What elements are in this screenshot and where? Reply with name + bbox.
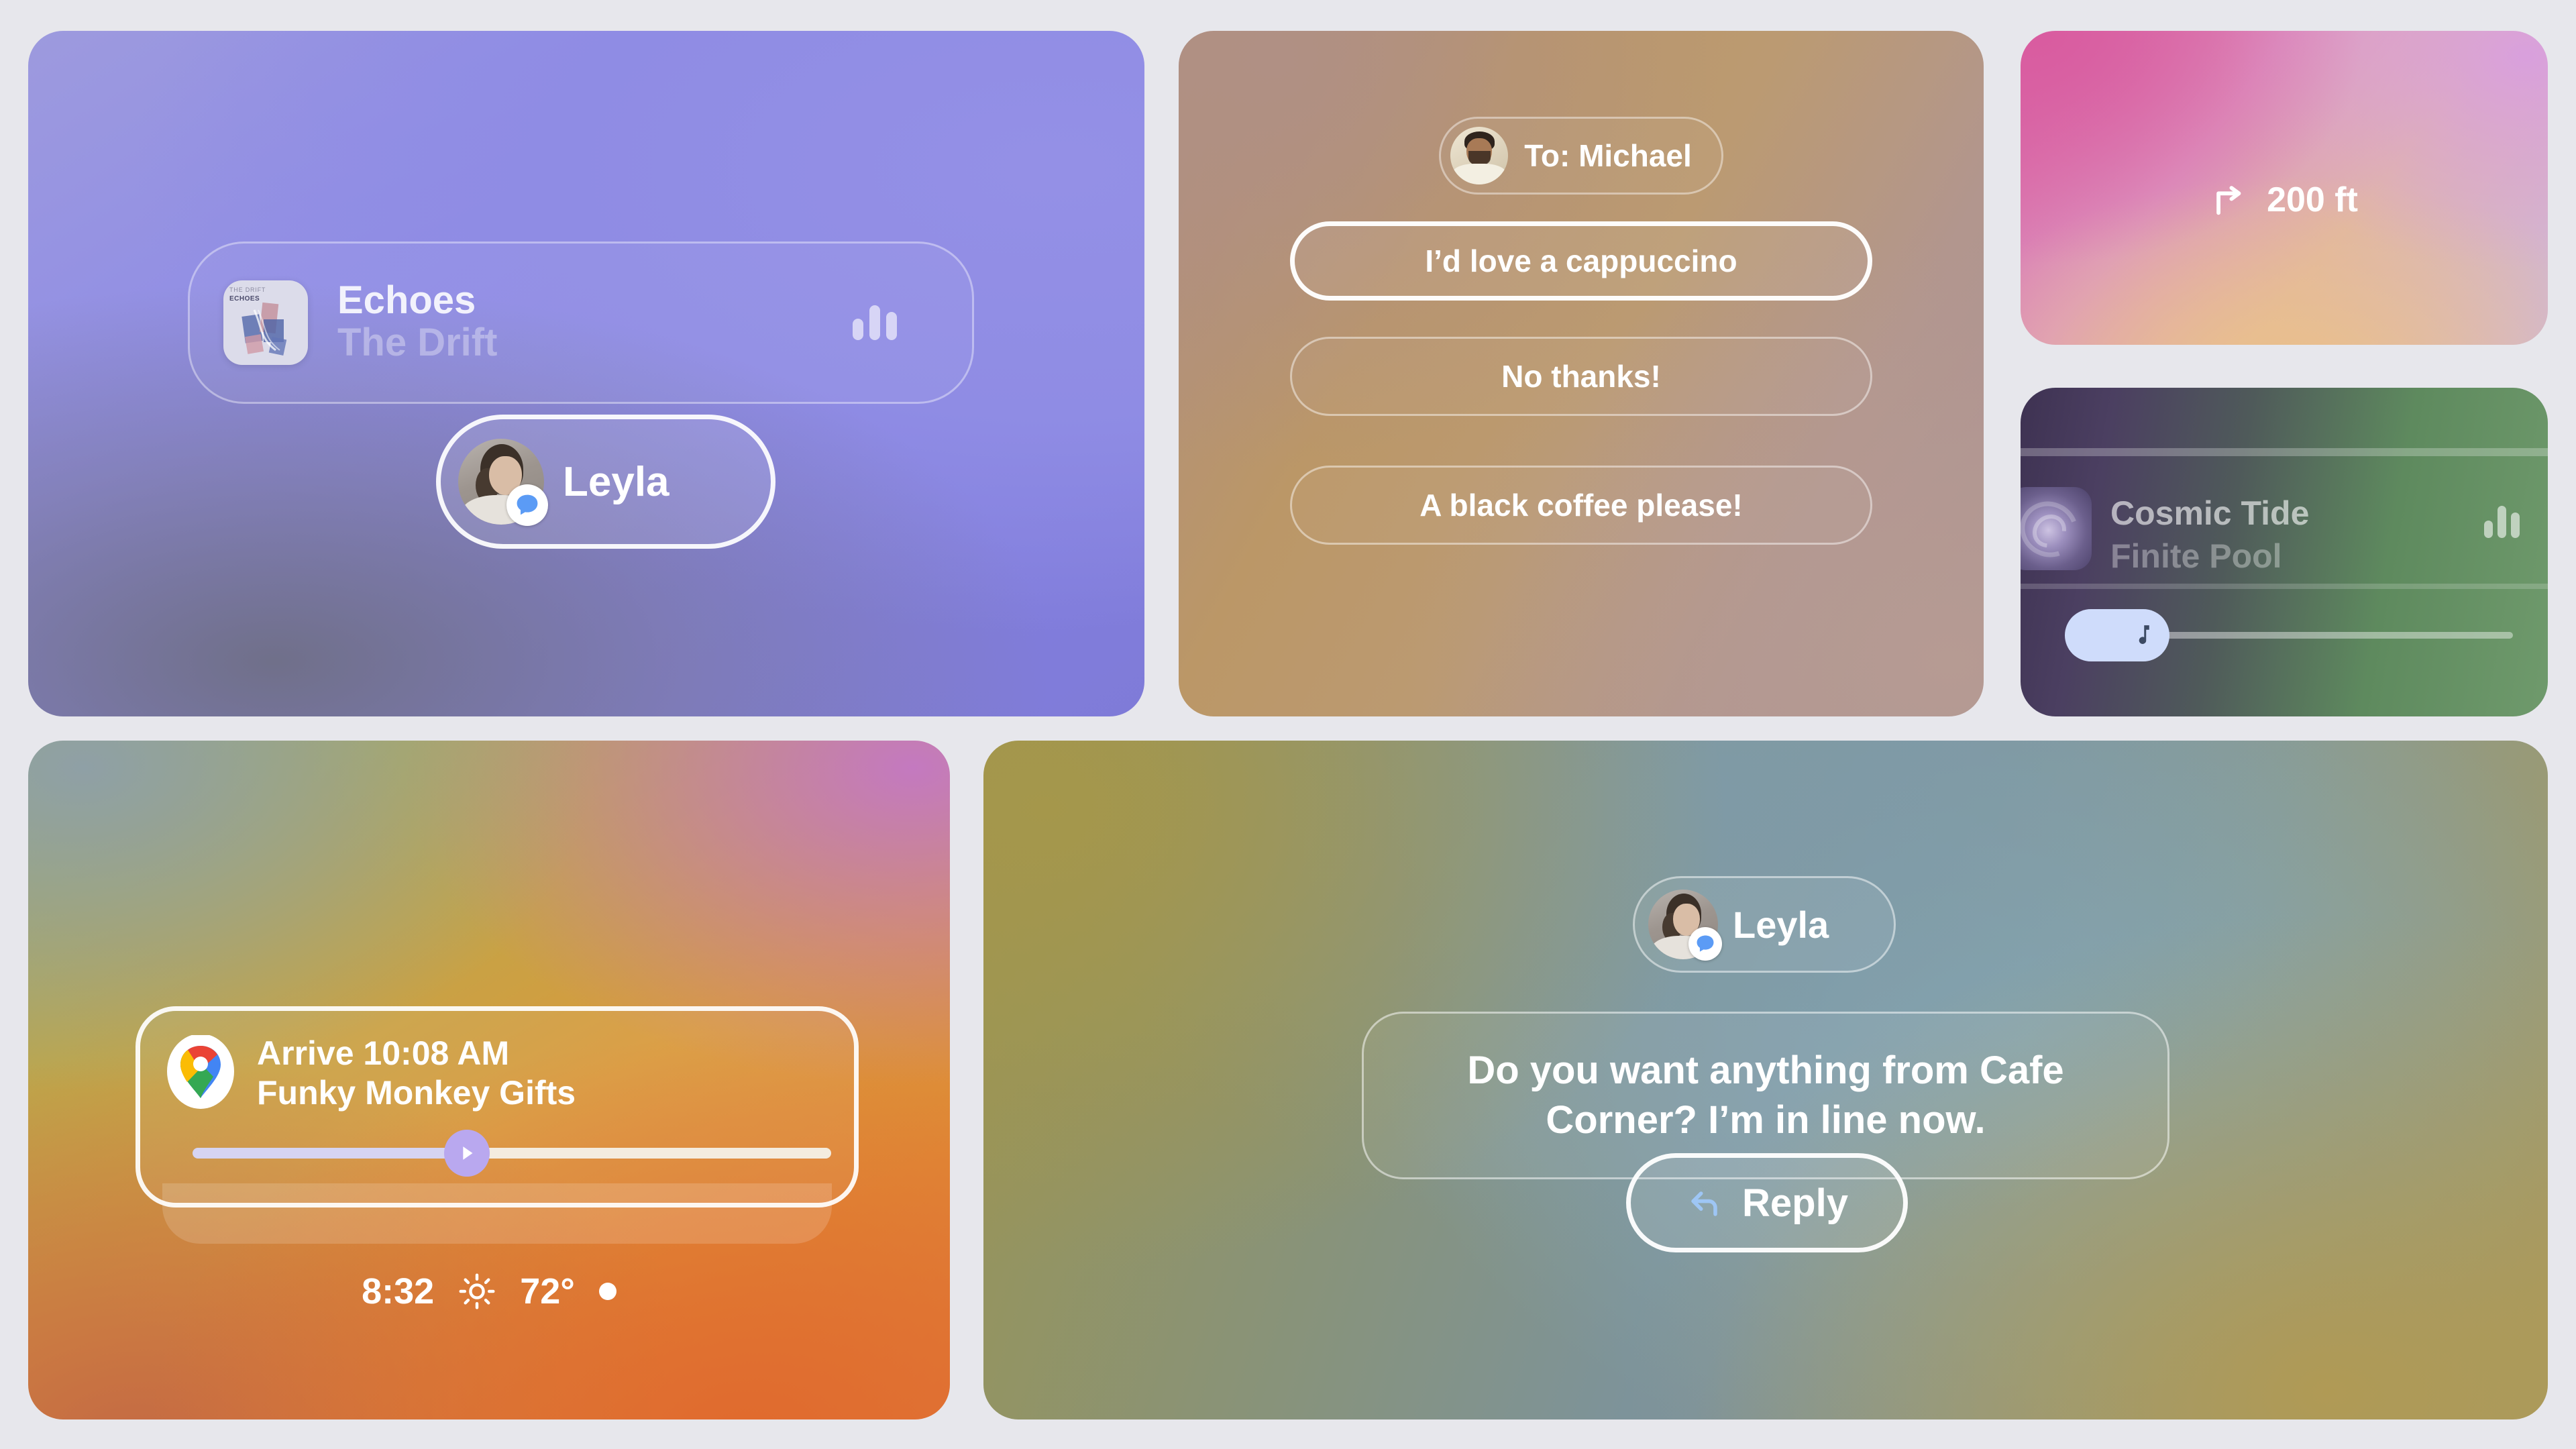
album-art [2021,487,2092,570]
navigation-distance: 200 ft [2267,180,2358,220]
panel-now-playing: THE DRIFT ECHOES Echoes The Drift [28,31,1144,716]
album-art: THE DRIFT ECHOES [223,280,308,365]
reply-arrow-icon [1686,1183,1725,1222]
progress-remaining [467,1148,831,1159]
equalizer-icon [853,305,897,340]
destination-label: Funky Monkey Gifts [257,1073,576,1113]
track-artist: The Drift [337,321,497,365]
smart-reply-option[interactable]: No thanks! [1290,337,1872,416]
eta-label: Arrive 10:08 AM [257,1034,576,1073]
google-messages-icon [506,484,548,526]
music-note-icon [2127,620,2155,651]
turn-right-icon [2210,180,2249,219]
reply-button[interactable]: Reply [1626,1153,1908,1252]
equalizer-icon [2484,506,2520,538]
navigation-card-header: Arrive 10:08 AM Funky Monkey Gifts [167,1034,827,1113]
panel-smart-reply: To: Michael I’d love a cappuccino No tha… [1179,31,1984,716]
status-bar: 8:32 72° [28,1271,950,1312]
widget-wall: THE DRIFT ECHOES Echoes The Drift [0,0,2576,1449]
google-maps-pin-icon [167,1035,234,1112]
avatar [1648,890,1718,959]
sun-icon [458,1273,496,1310]
recipient-label: To: Michael [1524,138,1692,174]
sender-chip[interactable]: Leyla [1633,876,1896,973]
contact-chip-leyla[interactable]: Leyla [436,415,775,549]
recipient-chip[interactable]: To: Michael [1439,117,1723,195]
sender-name: Leyla [1733,903,1829,947]
panel-maps: Arrive 10:08 AM Funky Monkey Gifts 8:32 [28,741,950,1419]
clock: 8:32 [362,1271,434,1312]
panel-navigation: 200 ft [2021,31,2548,345]
temperature: 72° [520,1271,575,1312]
media-metadata: Echoes The Drift [337,280,497,365]
progress-elapsed [193,1148,467,1159]
track-artist: Finite Pool [2110,537,2282,576]
smart-reply-option[interactable]: I’d love a cappuccino [1290,221,1872,301]
contact-name: Leyla [563,458,669,506]
avatar [458,439,544,525]
track-title: Cosmic Tide [2110,494,2309,533]
message-body: Do you want anything from Cafe Corner? I… [1364,1046,2167,1145]
avatar [1450,127,1508,184]
progress-thumb[interactable] [444,1130,490,1177]
media-card[interactable]: THE DRIFT ECHOES Echoes The Drift [188,241,974,404]
track-title: Echoes [337,280,497,321]
smart-reply-option[interactable]: A black coffee please! [1290,466,1872,545]
reply-button-label: Reply [1742,1181,1848,1226]
divider [2021,448,2548,456]
privacy-dot-icon [599,1283,616,1300]
divider [2021,584,2548,589]
navigation-instruction[interactable]: 200 ft [2021,180,2548,220]
panel-message: Leyla Do you want anything from Cafe Cor… [983,741,2548,1419]
panel-cosmic-tide: Cosmic Tide Finite Pool [2021,388,2548,716]
trip-progress-slider[interactable] [193,1148,831,1159]
scrubber-thumb[interactable] [2065,609,2169,661]
google-messages-icon [1688,927,1722,961]
navigation-card[interactable]: Arrive 10:08 AM Funky Monkey Gifts [136,1006,859,1207]
navigation-arrow-icon [455,1142,478,1165]
navigation-card-text: Arrive 10:08 AM Funky Monkey Gifts [257,1034,576,1113]
